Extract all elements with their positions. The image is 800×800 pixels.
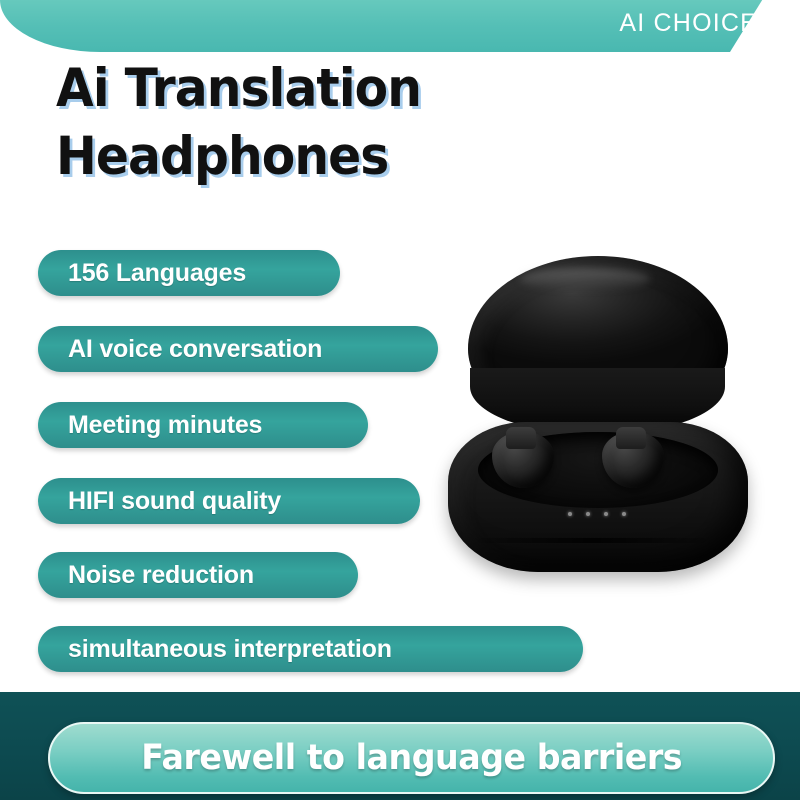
page-title-line-2: Headphones: [56, 123, 534, 191]
feature-pill-label: simultaneous interpretation: [38, 635, 392, 664]
feature-pill-label: 156 Languages: [38, 259, 246, 288]
feature-pill-label: Noise reduction: [38, 561, 254, 590]
earbud-right-stem: [616, 427, 646, 449]
feature-pill-hifi-sound-quality: HIFI sound quality: [38, 478, 420, 524]
product-poster: AI CHOICE Ai Translation Headphones 156 …: [0, 0, 800, 800]
ai-choice-badge: AI CHOICE: [619, 6, 758, 40]
product-image-earbuds-case: [440, 250, 760, 580]
page-title-line-1: Ai Translation: [56, 55, 534, 123]
case-seam: [478, 538, 706, 543]
feature-pill-label: HIFI sound quality: [38, 487, 281, 516]
case-lid-highlight: [520, 268, 650, 290]
led-dot: [604, 512, 608, 516]
page-title: Ai Translation Headphones: [56, 55, 576, 191]
feature-pill-simultaneous-interpretation: simultaneous interpretation: [38, 626, 583, 672]
footer-tagline-label: Farewell to language barriers: [141, 738, 682, 778]
earbud-left-stem: [506, 427, 536, 449]
feature-pill-meeting-minutes: Meeting minutes: [38, 402, 368, 448]
feature-pill-noise-reduction: Noise reduction: [38, 552, 358, 598]
led-dot: [586, 512, 590, 516]
led-dot: [568, 512, 572, 516]
battery-led-indicators: [568, 512, 626, 516]
feature-pill-languages: 156 Languages: [38, 250, 340, 296]
footer-tagline-pill: Farewell to language barriers: [48, 722, 775, 794]
led-dot: [622, 512, 626, 516]
feature-pill-ai-voice-conversation: AI voice conversation: [38, 326, 438, 372]
case-base: [448, 422, 748, 572]
feature-pill-label: AI voice conversation: [38, 335, 322, 364]
feature-pill-label: Meeting minutes: [38, 411, 262, 440]
